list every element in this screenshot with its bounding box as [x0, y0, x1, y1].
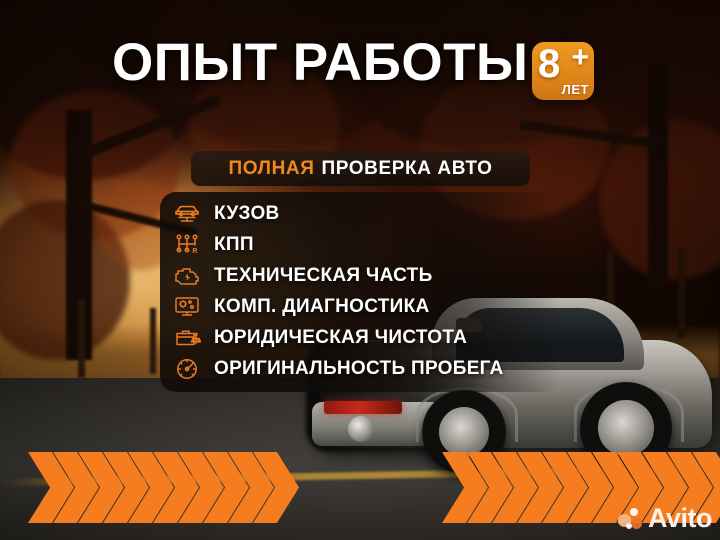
- feature-item-diagnostics: КОМП. ДИАГНОСТИКА: [160, 291, 560, 322]
- feature-label: КОМП. ДИАГНОСТИКА: [214, 297, 430, 316]
- car-rim: [439, 407, 489, 457]
- gear-shifter-icon: R: [170, 231, 204, 259]
- speedometer-icon: [170, 355, 204, 383]
- subtitle-highlight: ПОЛНАЯ: [229, 159, 315, 178]
- feature-item-kpp: R КПП: [160, 229, 560, 260]
- avito-wordmark: Avito: [648, 505, 712, 532]
- avito-watermark: Avito: [618, 505, 712, 532]
- subtitle-banner: ПОЛНАЯ ПРОВЕРКА АВТО: [191, 151, 530, 186]
- experience-badge: 8 + ЛЕТ: [532, 42, 594, 100]
- subtitle-rest: ПРОВЕРКА АВТО: [322, 159, 493, 178]
- promo-banner: ОПЫТ РАБОТЫ 8 + ЛЕТ ПОЛНАЯ ПРОВЕРКА АВТО…: [0, 0, 720, 540]
- chevron-group-left: [28, 452, 299, 523]
- features-panel: КУЗОВ R КПП: [160, 192, 560, 392]
- engine-icon: [170, 262, 204, 290]
- car-foglamp: [348, 416, 374, 442]
- badge-plus-sign: +: [571, 43, 589, 73]
- headline-title: ОПЫТ РАБОТЫ: [112, 36, 528, 89]
- feature-label: ЮРИДИЧЕСКАЯ ЧИСТОТА: [214, 328, 467, 347]
- feature-item-mileage: ОРИГИНАЛЬНОСТЬ ПРОБЕГА: [160, 353, 560, 384]
- feature-item-tech: ТЕХНИЧЕСКАЯ ЧАСТЬ: [160, 260, 560, 291]
- car-taillight: [324, 401, 402, 414]
- briefcase-scales-icon: [170, 324, 204, 352]
- feature-item-legal: ЮРИДИЧЕСКАЯ ЧИСТОТА: [160, 322, 560, 353]
- feature-label: ТЕХНИЧЕСКАЯ ЧАСТЬ: [214, 266, 433, 285]
- badge-number: 8: [538, 44, 560, 84]
- features-list: КУЗОВ R КПП: [160, 198, 560, 384]
- avito-dots-logo-icon: [618, 508, 644, 530]
- car-rim: [598, 400, 653, 455]
- svg-text:R: R: [192, 248, 197, 255]
- car-on-lift-icon: [170, 200, 204, 228]
- feature-item-kuzov: КУЗОВ: [160, 198, 560, 229]
- feature-label: КПП: [214, 235, 254, 254]
- feature-label: ОРИГИНАЛЬНОСТЬ ПРОБЕГА: [214, 359, 504, 378]
- badge-years-label: ЛЕТ: [562, 83, 589, 96]
- monitor-gear-icon: [170, 293, 204, 321]
- feature-label: КУЗОВ: [214, 204, 280, 223]
